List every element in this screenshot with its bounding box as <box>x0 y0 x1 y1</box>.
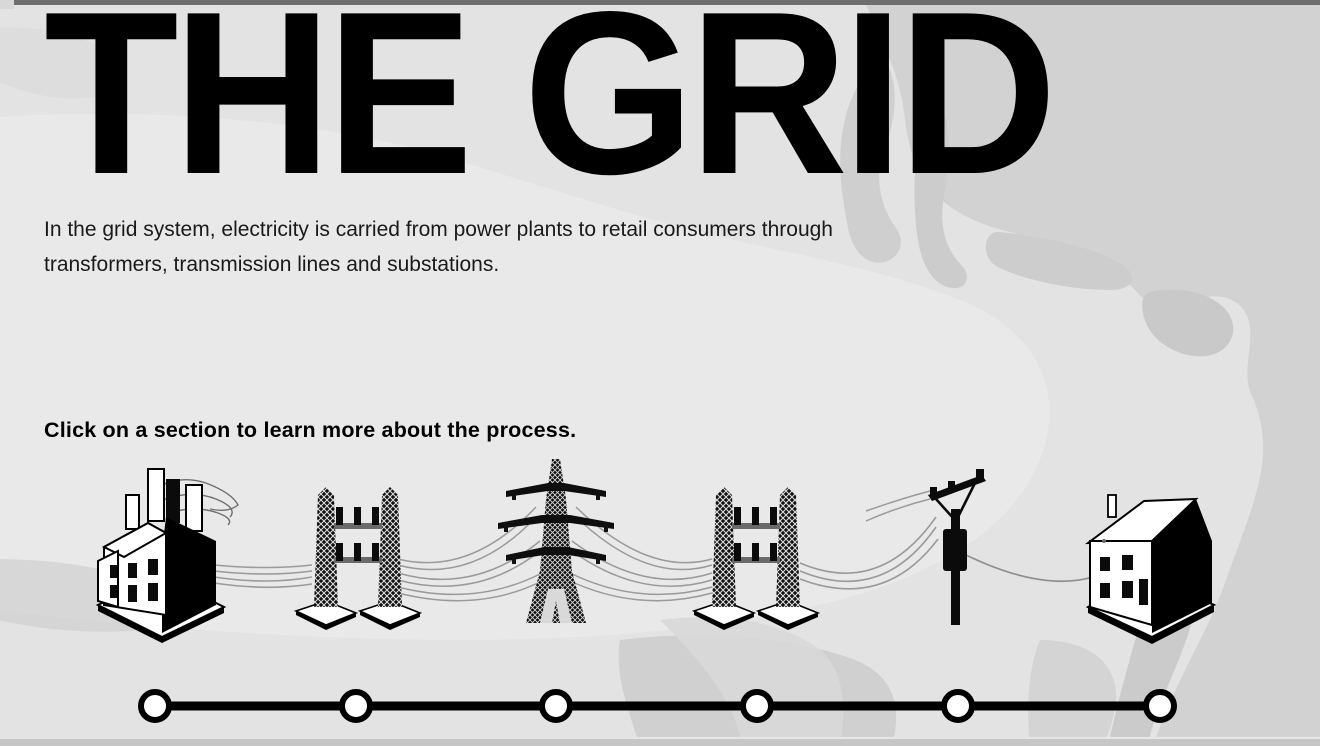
substation-insulators-lower <box>336 543 379 561</box>
timeline-node-6[interactable] <box>1146 692 1174 720</box>
page-subtitle: In the grid system, electricity is carri… <box>44 212 874 282</box>
timeline-node-4[interactable] <box>743 692 771 720</box>
substation-insulators-upper <box>336 507 379 525</box>
house-service-attach <box>1102 539 1106 543</box>
substation-icon-2[interactable] <box>694 487 818 630</box>
house-door <box>1139 579 1148 605</box>
timeline-node-2[interactable] <box>342 692 370 720</box>
wires-plant-to-stepup <box>214 565 312 587</box>
substation2-insulators-lower <box>734 543 777 561</box>
wires-substation-to-pole <box>800 517 938 589</box>
process-timeline[interactable] <box>0 672 1320 740</box>
house-icon[interactable] <box>1088 495 1214 644</box>
pole-incoming-spans <box>866 491 930 521</box>
wire-pole-to-house <box>958 551 1104 581</box>
substation-icon[interactable] <box>296 487 420 630</box>
page-title: THE GRID <box>44 0 1051 210</box>
substation2-tower-left <box>712 487 736 607</box>
grid-infographic: THE GRID In the grid system, electricity… <box>0 0 1320 746</box>
timeline-node-5[interactable] <box>944 692 972 720</box>
utility-pole-icon[interactable] <box>866 469 986 625</box>
timeline-node-1[interactable] <box>141 692 169 720</box>
substation2-tower-right <box>776 487 800 607</box>
plant-stack-3 <box>186 485 202 531</box>
plant-stack-4 <box>126 495 139 529</box>
window-top-bar-notch <box>0 0 14 9</box>
pole-transformer-can <box>943 529 967 571</box>
timeline-node-3[interactable] <box>542 692 570 720</box>
instruction-text: Click on a section to learn more about t… <box>44 416 576 444</box>
window-top-bar <box>0 0 1320 5</box>
house-chimney <box>1108 495 1116 517</box>
substation-tower-left <box>314 487 338 607</box>
grid-process-diagram <box>0 455 1320 655</box>
tower-peak <box>546 459 566 499</box>
transmission-tower-icon[interactable] <box>498 459 614 623</box>
tower-body <box>540 499 572 571</box>
substation-tower-right <box>378 487 402 607</box>
substation2-insulators-upper <box>734 507 777 525</box>
power-plant-icon[interactable] <box>98 469 238 643</box>
plant-stack-2 <box>166 479 180 523</box>
plant-stack-1 <box>148 469 164 521</box>
footer-strip <box>0 739 1320 746</box>
plant-annex <box>98 551 118 607</box>
